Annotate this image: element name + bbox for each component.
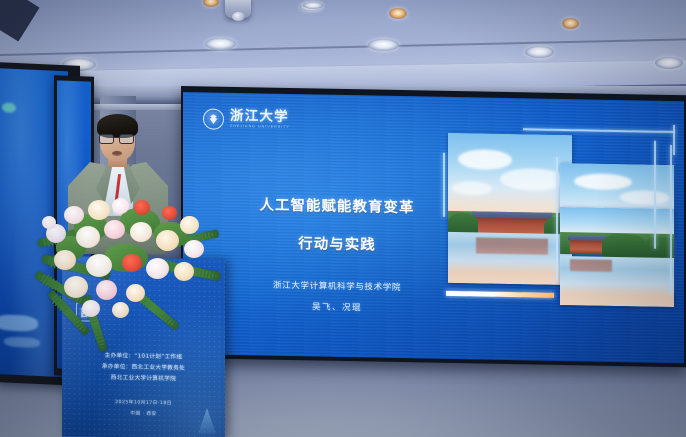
flower (82, 300, 100, 317)
slide-title-line1: 人工智能赋能教育变革 (221, 193, 453, 218)
brand-name-cn: 浙江大学 (230, 110, 290, 125)
flower (146, 258, 169, 279)
ceiling-light (205, 38, 236, 50)
lectern-organizer-text: 主办单位：“101计划”工作组 承办单位：西北工业大学教务处 西北工业大学计算机… (62, 350, 225, 386)
collage-frame-line (556, 157, 558, 281)
flower (126, 284, 145, 302)
conference-photo: 浙江大学 ZHEJIANG UNIVERSITY 人工智能赋能教育变革 行动与实… (0, 0, 686, 437)
flower (76, 226, 100, 248)
slide-affiliation: 浙江大学计算机科学与技术学院 (221, 278, 453, 294)
glasses-bridge (113, 137, 120, 138)
flower (64, 276, 88, 298)
flower (54, 250, 76, 270)
flower (184, 240, 204, 258)
ceiling-light (525, 46, 554, 58)
ceiling-light (389, 8, 407, 19)
flower (134, 200, 150, 215)
slide-title-line2: 行动与实践 (221, 231, 453, 256)
flower (180, 216, 199, 234)
flower (122, 254, 142, 272)
led-screen-bezel: 浙江大学 ZHEJIANG UNIVERSITY 人工智能赋能教育变革 行动与实… (181, 86, 686, 367)
slide-title-block: 人工智能赋能教育变革 行动与实践 浙江大学计算机科学与技术学院 吴飞、况琨 (221, 193, 453, 315)
flower (104, 220, 125, 239)
ceiling-light (303, 2, 323, 9)
ceiling-corner-beam (0, 0, 40, 42)
flower (112, 302, 129, 318)
campus-photo (448, 133, 572, 285)
collage-frame-line (443, 153, 445, 217)
flower (156, 230, 179, 251)
flower (96, 280, 117, 300)
flower (112, 198, 129, 214)
ceiling-light (562, 18, 579, 29)
ceiling-light (203, 0, 219, 7)
slide-accent-line (673, 125, 675, 155)
floral-arrangement (34, 196, 224, 336)
flower (130, 222, 152, 242)
collage-frame-line (670, 145, 672, 295)
campus-photo (560, 207, 674, 307)
lectern-footer-text: 2025年10月17日-18日 中国 · 西安 (62, 396, 225, 421)
collage-highlight-bar (446, 291, 554, 298)
presenter-mouth (112, 151, 122, 156)
flower (42, 216, 56, 229)
flower (88, 200, 110, 220)
projector-lens (232, 12, 245, 21)
slide-brand-lockup: 浙江大学 ZHEJIANG UNIVERSITY (203, 108, 290, 131)
brand-name-en: ZHEJIANG UNIVERSITY (230, 125, 290, 130)
ceiling-light (655, 57, 683, 69)
glasses-lens-left (99, 134, 114, 144)
zhejiang-university-emblem-icon (203, 108, 224, 129)
slide-accent-line (654, 141, 656, 249)
campus-photo-collage (438, 133, 674, 332)
qiushi-eagle-icon (209, 114, 219, 124)
ceiling-light (368, 39, 399, 51)
flower (174, 262, 194, 281)
glasses-lens-right (119, 134, 134, 144)
ceiling (0, 0, 686, 96)
flower (162, 206, 177, 220)
flower (86, 254, 112, 277)
presentation-slide: 浙江大学 ZHEJIANG UNIVERSITY 人工智能赋能教育变革 行动与实… (183, 92, 684, 363)
flower (64, 206, 84, 224)
